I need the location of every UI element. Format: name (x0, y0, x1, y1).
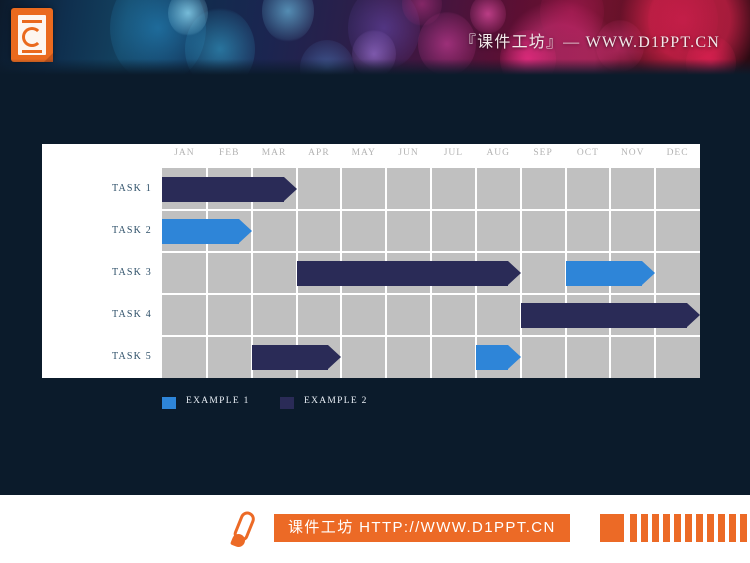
powerpoint-icon-bar (22, 50, 42, 53)
gantt-bar-arrow-tip (284, 177, 297, 201)
month-label-apr: APR (297, 148, 342, 158)
legend-swatch (280, 397, 294, 409)
header-fade (0, 59, 750, 75)
slide-footer: 课件工坊 HTTP://WWW.D1PPT.CN (0, 495, 750, 563)
task-label-4: TASK 4 (42, 309, 152, 320)
footer-stripe (740, 514, 747, 542)
legend-label: EXAMPLE 2 (304, 396, 368, 406)
legend-label: EXAMPLE 1 (186, 396, 250, 406)
gantt-bar-body (297, 261, 508, 286)
gantt-bar-arrow-tip (239, 219, 252, 243)
footer-stripe (718, 514, 725, 542)
task-label-3: TASK 3 (42, 267, 152, 278)
footer-stripe (685, 514, 692, 542)
month-label-feb: FEB (207, 148, 252, 158)
gantt-bar[interactable] (162, 177, 297, 202)
gantt-bar[interactable] (521, 303, 700, 328)
gantt-bar[interactable] (162, 219, 252, 244)
gantt-bar-body (162, 177, 284, 202)
powerpoint-icon-sheet (18, 15, 46, 55)
gantt-chart-panel: JANFEBMARAPRMAYJUNJULAUGSEPOCTNOVDEC TAS… (42, 144, 700, 378)
gantt-bar[interactable] (476, 345, 521, 370)
month-label-may: MAY (341, 148, 386, 158)
gantt-bar-arrow-tip (687, 303, 700, 327)
gantt-bar-arrow-tip (642, 261, 655, 285)
gantt-bar-body (476, 345, 508, 370)
grid-hline (162, 293, 700, 295)
gantt-bar-arrow-tip (508, 261, 521, 285)
header-title: 『课件工坊』— WWW.D1PPT.CN (460, 28, 720, 52)
bokeh-circle (262, 0, 314, 42)
footer-stripe (663, 514, 670, 542)
gantt-bar-arrow-tip (328, 345, 341, 369)
footer-stripe (674, 514, 681, 542)
month-label-sep: SEP (521, 148, 566, 158)
gantt-bar[interactable] (252, 345, 342, 370)
legend-swatch (162, 397, 176, 409)
grid-hline (162, 335, 700, 337)
task-label-2: TASK 2 (42, 225, 152, 236)
month-label-mar: MAR (252, 148, 297, 158)
slide-stage: JANFEBMARAPRMAYJUNJULAUGSEPOCTNOVDEC TAS… (0, 75, 750, 495)
month-label-nov: NOV (610, 148, 655, 158)
month-label-jan: JAN (162, 148, 207, 158)
footer-stripe (630, 514, 637, 542)
grid-hline (162, 209, 700, 211)
pencil-icon (228, 509, 262, 547)
footer-stripe (641, 514, 648, 542)
month-label-oct: OCT (566, 148, 611, 158)
month-label-dec: DEC (655, 148, 700, 158)
gantt-bar-body (252, 345, 329, 370)
gantt-bar-arrow-tip (508, 345, 521, 369)
powerpoint-icon (11, 8, 53, 62)
footer-stripes (600, 514, 750, 542)
footer-banner-text: 课件工坊 HTTP://WWW.D1PPT.CN (274, 514, 570, 542)
gantt-bar-body (566, 261, 643, 286)
task-label-1: TASK 1 (42, 183, 152, 194)
footer-stripe (652, 514, 659, 542)
month-label-jun: JUN (386, 148, 431, 158)
month-label-aug: AUG (476, 148, 521, 158)
month-header-row: JANFEBMARAPRMAYJUNJULAUGSEPOCTNOVDEC (162, 144, 700, 168)
gantt-bar[interactable] (297, 261, 521, 286)
footer-stripe (696, 514, 703, 542)
task-label-5: TASK 5 (42, 351, 152, 362)
footer-stripe (707, 514, 714, 542)
slide-header-banner: 『课件工坊』— WWW.D1PPT.CN (0, 0, 750, 75)
grid-hline (162, 251, 700, 253)
gantt-bar-body (521, 303, 687, 328)
footer-stripe (729, 514, 736, 542)
gantt-bar-body (162, 219, 239, 244)
footer-stripe (600, 514, 624, 542)
month-label-jul: JUL (431, 148, 476, 158)
gantt-bar[interactable] (566, 261, 656, 286)
